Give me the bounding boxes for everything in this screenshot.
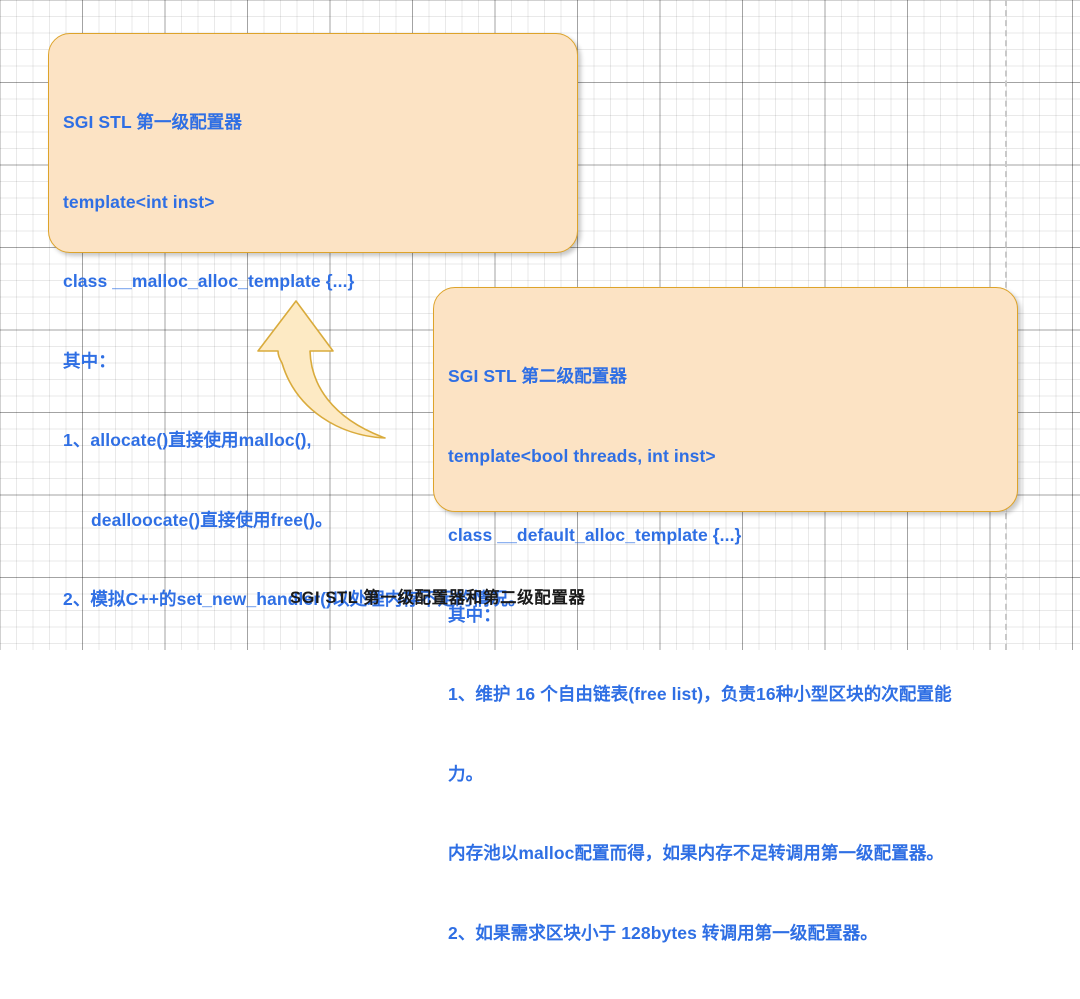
box2-line-template: template<bool threads, int inst> bbox=[448, 443, 1001, 470]
box2-line-item1-cont: 力。 bbox=[448, 761, 1001, 788]
box2-line-class: class __default_alloc_template {...} bbox=[448, 522, 1001, 549]
box2-line-item1: 1、维护 16 个自由链表(free list)，负责16种小型区块的次配置能 bbox=[448, 681, 1001, 708]
diagram-canvas: SGI STL 第一级配置器 template<int inst> class … bbox=[0, 0, 1080, 650]
callout-box-first-level-allocator[interactable]: SGI STL 第一级配置器 template<int inst> class … bbox=[48, 33, 578, 253]
box1-line-template: template<int inst> bbox=[63, 189, 561, 216]
box2-line-title: SGI STL 第二级配置器 bbox=[448, 363, 1001, 390]
box2-line-item2: 2、如果需求区块小于 128bytes 转调用第一级配置器。 bbox=[448, 920, 1001, 947]
box2-line-pool: 内存池以malloc配置而得，如果内存不足转调用第一级配置器。 bbox=[448, 840, 1001, 867]
callout-box-second-level-allocator[interactable]: SGI STL 第二级配置器 template<bool threads, in… bbox=[433, 287, 1018, 512]
diagram-caption: SGI STL 第一级配置器和第二级配置器 bbox=[290, 584, 586, 608]
box1-line-title: SGI STL 第一级配置器 bbox=[63, 109, 561, 136]
